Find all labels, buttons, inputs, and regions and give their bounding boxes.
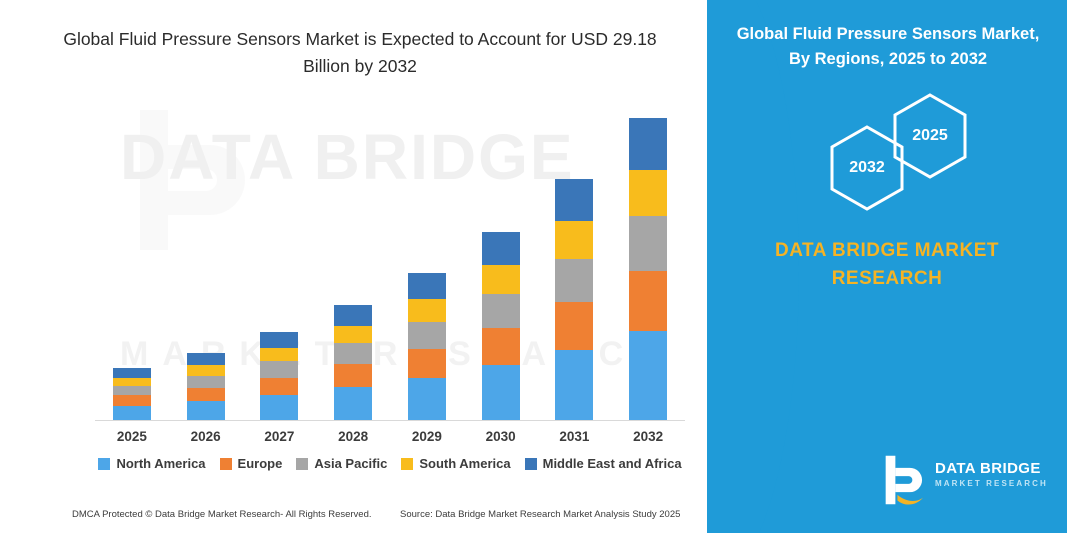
x-axis-tick-label: 2027	[244, 429, 314, 444]
brand-line-2: RESEARCH	[707, 268, 1067, 290]
legend-item: Middle East and Africa	[525, 456, 682, 471]
legend-label: Europe	[238, 456, 283, 471]
bar-segment	[482, 265, 520, 294]
bar-column	[482, 232, 520, 420]
legend-swatch	[401, 458, 413, 470]
bar-segment	[629, 170, 667, 217]
x-axis-tick-label: 2028	[318, 429, 388, 444]
legend-label: Asia Pacific	[314, 456, 387, 471]
bar-segment	[260, 395, 298, 420]
bar-segment	[408, 299, 446, 322]
bar-segment	[555, 221, 593, 258]
bar-segment	[187, 353, 225, 365]
bar-segment	[555, 179, 593, 221]
page-title: Global Fluid Pressure Sensors Market is …	[40, 26, 680, 80]
legend-label: South America	[419, 456, 510, 471]
bar-column	[187, 353, 225, 420]
x-axis-tick-label: 2029	[392, 429, 462, 444]
logo-text-secondary: MARKET RESEARCH	[935, 479, 1048, 488]
bar-segment	[334, 364, 372, 387]
legend-label: Middle East and Africa	[543, 456, 682, 471]
x-axis-line	[95, 420, 685, 421]
legend-swatch	[220, 458, 232, 470]
bar-segment	[408, 273, 446, 299]
stacked-bar-plot	[95, 110, 685, 420]
bar-segment	[187, 388, 225, 401]
bar-segment	[482, 294, 520, 328]
bar-segment	[555, 259, 593, 302]
bar-column	[408, 273, 446, 420]
panel-title-line-1: Global Fluid Pressure Sensors Market,	[723, 22, 1053, 47]
bar-segment	[334, 343, 372, 364]
bar-segment	[408, 378, 446, 420]
bar-segment	[260, 361, 298, 378]
brand-logo: DATA BRIDGE MARKET RESEARCH	[877, 452, 1057, 508]
legend-swatch	[296, 458, 308, 470]
bar-column	[260, 332, 298, 420]
bar-segment	[629, 331, 667, 420]
bar-segment	[408, 349, 446, 378]
x-axis-tick-label: 2032	[613, 429, 683, 444]
data-bridge-logo-icon	[877, 454, 929, 506]
hexagon-2025: 2025	[891, 92, 969, 180]
bar-column	[113, 368, 151, 420]
legend-item: Europe	[220, 456, 283, 471]
bar-segment	[113, 386, 151, 395]
chart-legend: North AmericaEuropeAsia PacificSouth Ame…	[95, 456, 685, 471]
bar-segment	[334, 305, 372, 326]
x-axis-tick-label: 2026	[171, 429, 241, 444]
x-axis-tick-label: 2025	[97, 429, 167, 444]
hexagon-2032-label: 2032	[849, 159, 885, 177]
legend-swatch	[525, 458, 537, 470]
bar-segment	[187, 376, 225, 388]
legend-swatch	[98, 458, 110, 470]
bar-segment	[113, 368, 151, 377]
bar-segment	[482, 232, 520, 265]
legend-item: South America	[401, 456, 510, 471]
hexagon-2025-label: 2025	[912, 127, 948, 145]
bar-segment	[334, 387, 372, 420]
bar-column	[334, 305, 372, 420]
bar-segment	[187, 365, 225, 375]
bar-segment	[260, 348, 298, 361]
chart-area: Global Fluid Pressure Sensors Market is …	[0, 0, 710, 533]
panel-title: Global Fluid Pressure Sensors Market, By…	[723, 22, 1053, 72]
bar-column	[629, 118, 667, 420]
bar-segment	[629, 118, 667, 170]
bar-segment	[334, 326, 372, 344]
brand-line-1: DATA BRIDGE MARKET	[707, 240, 1067, 262]
bar-segment	[629, 271, 667, 331]
footer-source: Source: Data Bridge Market Research Mark…	[400, 509, 680, 520]
bar-segment	[113, 406, 151, 420]
panel-curve-shape	[707, 0, 799, 533]
bar-segment	[113, 395, 151, 405]
legend-item: Asia Pacific	[296, 456, 387, 471]
legend-label: North America	[116, 456, 205, 471]
bar-segment	[260, 332, 298, 348]
right-panel: Global Fluid Pressure Sensors Market, By…	[707, 0, 1067, 533]
x-axis-tick-label: 2031	[539, 429, 609, 444]
bar-segment	[555, 350, 593, 420]
x-axis-tick-label: 2030	[466, 429, 536, 444]
legend-item: North America	[98, 456, 205, 471]
bar-segment	[187, 401, 225, 420]
bar-segment	[629, 216, 667, 271]
bar-column	[555, 179, 593, 420]
bar-segment	[482, 328, 520, 365]
footer-copyright: DMCA Protected © Data Bridge Market Rese…	[72, 509, 372, 520]
bar-segment	[408, 322, 446, 349]
panel-title-line-2: By Regions, 2025 to 2032	[723, 47, 1053, 72]
logo-text-primary: DATA BRIDGE	[935, 460, 1041, 477]
bar-segment	[482, 365, 520, 420]
bar-segment	[260, 378, 298, 396]
infographic-root: Global Fluid Pressure Sensors Market is …	[0, 0, 1067, 533]
bar-segment	[555, 302, 593, 350]
bar-segment	[113, 378, 151, 386]
